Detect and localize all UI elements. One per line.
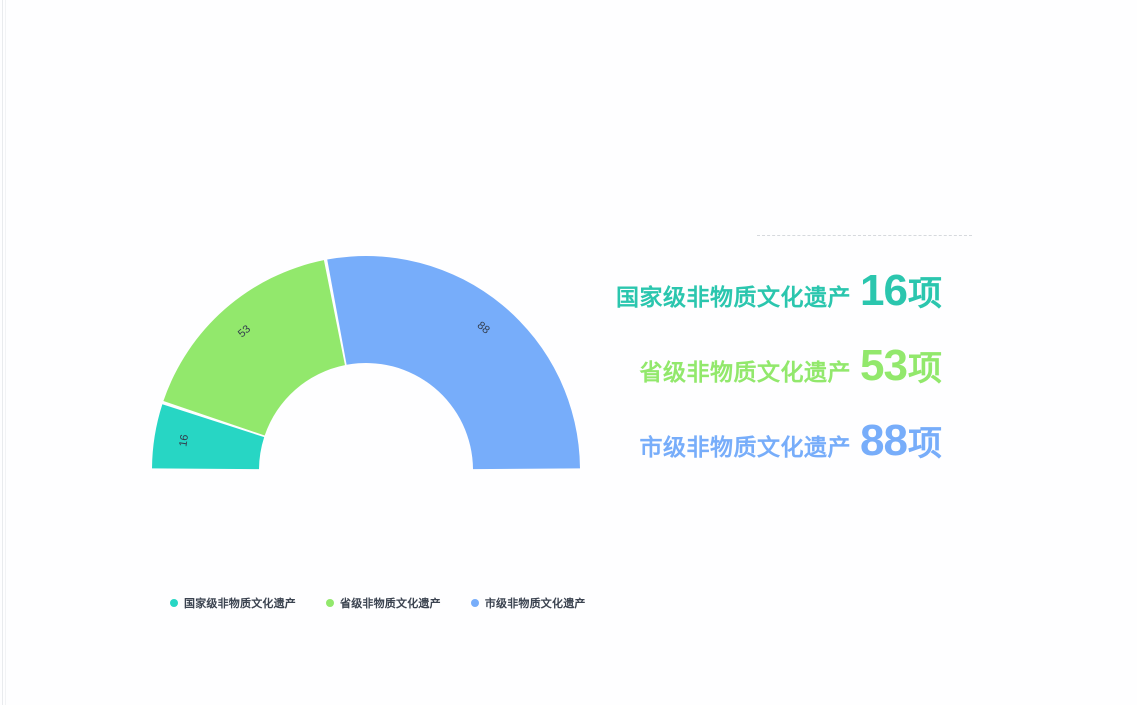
donut-slice[interactable] [327, 256, 580, 469]
donut-chart-svg: 165388 [120, 195, 630, 495]
legend-item-label: 省级非物质文化遗产 [340, 595, 441, 611]
legend-color-dot-icon [471, 599, 479, 607]
stat-label: 国家级非物质文化遗产 [616, 278, 851, 312]
dashed-divider [757, 235, 972, 236]
slide-canvas: 165388 国家级非物质文化遗产 省级非物质文化遗产 市级非物质文化遗产 国家… [0, 0, 1137, 705]
chart-legend: 国家级非物质文化遗产 省级非物质文化遗产 市级非物质文化遗产 [170, 595, 586, 611]
stat-row-national: 国家级非物质文化遗产 16 项 [616, 266, 942, 316]
half-donut-chart: 165388 [120, 195, 630, 495]
legend-color-dot-icon [170, 599, 178, 607]
stat-label: 省级非物质文化遗产 [640, 353, 852, 387]
stat-row-municipal: 市级非物质文化遗产 88 项 [640, 416, 942, 466]
donut-slice-value-label: 16 [177, 434, 191, 448]
left-edge-rule [2, 0, 3, 705]
legend-color-dot-icon [326, 599, 334, 607]
legend-item-0[interactable]: 国家级非物质文化遗产 [170, 595, 296, 611]
legend-item-2[interactable]: 市级非物质文化遗产 [471, 595, 586, 611]
donut-slice[interactable] [163, 260, 345, 435]
legend-item-label: 市级非物质文化遗产 [485, 595, 586, 611]
stat-row-provincial: 省级非物质文化遗产 53 项 [640, 341, 942, 391]
stat-label: 市级非物质文化遗产 [640, 428, 852, 462]
stat-unit: 项 [908, 266, 942, 315]
stat-number: 88 [860, 416, 907, 466]
stat-number: 53 [860, 341, 907, 391]
stat-unit: 项 [908, 416, 942, 465]
left-edge-rule-secondary [5, 0, 6, 705]
legend-item-label: 国家级非物质文化遗产 [184, 595, 296, 611]
stat-number: 16 [860, 266, 907, 316]
stat-unit: 项 [908, 341, 942, 390]
donut-slices [152, 256, 580, 469]
legend-item-1[interactable]: 省级非物质文化遗产 [326, 595, 441, 611]
